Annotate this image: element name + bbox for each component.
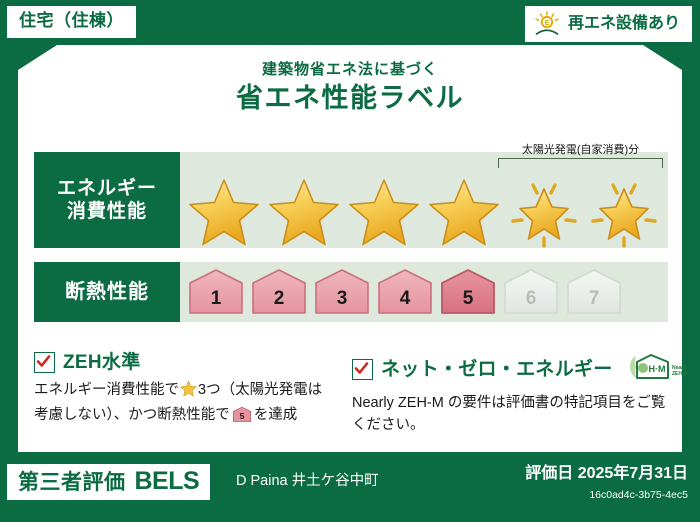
criteria-columns: ZEH水準 エネルギー消費性能で3つ（太陽光発電は考慮しない）、かつ断熱性能で5…	[34, 352, 670, 437]
zeh-standard-description: エネルギー消費性能で3つ（太陽光発電は考慮しない）、かつ断熱性能で5を達成	[34, 379, 330, 431]
star-filled	[344, 152, 424, 248]
star-rating	[180, 152, 668, 248]
evaluation-date-label: 評価日	[525, 465, 573, 482]
check-icon	[34, 352, 55, 373]
insulation-level-number: 1	[211, 289, 222, 317]
bels-en-label: BELS	[135, 469, 200, 494]
zeh-standard-column: ZEH水準 エネルギー消費性能で3つ（太陽光発電は考慮しない）、かつ断熱性能で5…	[34, 352, 330, 437]
zeh-standard-header: ZEH水準	[34, 352, 330, 374]
net-zero-energy-column: ネット・ゼロ・エネルギー H·M Nearly ZEH-M Nearly ZEH…	[352, 352, 670, 437]
bels-jp-label: 第三者評価	[18, 472, 126, 493]
star-solar-bonus	[504, 152, 584, 248]
evaluation-id: 16c0ad4c-3b75-4ec5	[589, 490, 688, 501]
insulation-level-number: 7	[589, 289, 600, 317]
insulation-level-number: 3	[337, 289, 348, 317]
building-name: D Paina 井土ケ谷中町	[236, 474, 379, 489]
insulation-label-text: 断熱性能	[65, 280, 149, 304]
evaluation-date: 評価日 2025年7月31日	[525, 466, 688, 482]
svg-text:H·M: H·M	[648, 364, 665, 374]
insulation-performance-row: 断熱性能 1	[34, 262, 668, 322]
net-zero-energy-title: ネット・ゼロ・エネルギー	[381, 359, 613, 381]
insulation-level-badge: 3	[312, 267, 372, 317]
insulation-level-number: 5	[463, 289, 474, 317]
footer-bar: 第三者評価 BELS D Paina 井土ケ谷中町 評価日 2025年7月31日…	[0, 452, 700, 522]
star-filled	[264, 152, 344, 248]
check-icon	[352, 359, 373, 380]
insulation-level-badge-achieved: 5	[438, 267, 498, 317]
renewable-badge-label: 再エネ設備あり	[568, 15, 680, 33]
svg-text:ZEH-M: ZEH-M	[672, 371, 687, 377]
energy-performance-row: エネルギー 消費性能	[34, 152, 668, 248]
svg-text:E: E	[545, 20, 550, 27]
energy-stars-area: 太陽光発電(自家消費)分	[180, 152, 668, 248]
star-filled	[184, 152, 264, 248]
insulation-level-badge: 2	[249, 267, 309, 317]
housing-type-tag: 住宅（住棟）	[7, 6, 136, 38]
insulation-level-number: 2	[274, 289, 285, 317]
svg-text:5: 5	[239, 411, 244, 421]
star-icon	[180, 385, 197, 401]
insulation-level-scale: 1 2 3 4	[180, 262, 668, 322]
title-block: 建築物省エネ法に基づく 省エネ性能ラベル	[0, 61, 700, 116]
energy-performance-label: エネルギー 消費性能	[34, 152, 180, 248]
energy-performance-label: 住宅（住棟） E 再エネ設備あり 建築物省エネ法に基づく 省エネ性能ラベル	[0, 0, 700, 522]
zeh-desc-part3: を達成	[254, 407, 298, 423]
insulation-level-number: 6	[526, 289, 537, 317]
title-subtitle: 建築物省エネ法に基づく	[0, 61, 700, 79]
zeh-desc-part1: エネルギー消費性能で	[34, 382, 179, 398]
insulation-level-badge: 4	[375, 267, 435, 317]
energy-label-line1: エネルギー	[57, 177, 157, 200]
star-solar-bonus	[584, 152, 664, 248]
sun-icon: E	[533, 11, 561, 37]
net-zero-energy-header: ネット・ゼロ・エネルギー H·M Nearly ZEH-M	[352, 352, 670, 387]
title-main: 省エネ性能ラベル	[0, 82, 700, 116]
star-filled	[424, 152, 504, 248]
energy-label-line2: 消費性能	[67, 200, 147, 223]
evaluation-date-value: 2025年7月31日	[578, 465, 688, 482]
zeh-standard-title: ZEH水準	[63, 352, 141, 374]
insulation-levels-area: 1 2 3 4	[180, 262, 668, 322]
housing-type-label: 住宅（住棟）	[19, 11, 124, 30]
insulation-level-number: 4	[400, 289, 411, 317]
bels-certification-badge: 第三者評価 BELS	[7, 464, 210, 500]
renewable-equipment-badge: E 再エネ設備あり	[525, 6, 692, 42]
insulation-performance-label: 断熱性能	[34, 262, 180, 322]
net-zero-energy-description: Nearly ZEH-M の要件は評価書の特記項目をご覧ください。	[352, 392, 670, 437]
insulation-level-badge-inactive: 7	[564, 267, 624, 317]
insulation-level-badge-inactive: 6	[501, 267, 561, 317]
nearly-zeh-m-logo-icon: H·M Nearly ZEH-M	[625, 352, 687, 387]
insulation-level-badge: 1	[186, 267, 246, 317]
house-level-icon: 5	[232, 411, 252, 427]
